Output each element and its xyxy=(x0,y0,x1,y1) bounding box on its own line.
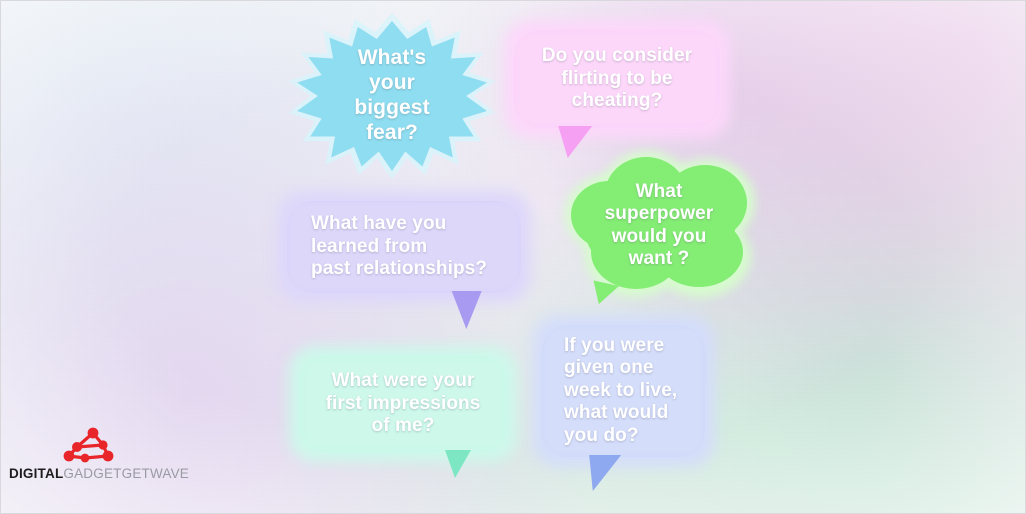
bubble-text: What superpower would you want ? xyxy=(601,181,718,271)
bubble-text: What have you learned from past relation… xyxy=(307,213,491,280)
bubble-text: What's your biggest fear? xyxy=(350,46,433,145)
site-logo[interactable]: DIGITALGADGETGETWAVE xyxy=(7,425,187,491)
speech-bubble-biggest-fear[interactable]: What's your biggest fear? xyxy=(297,21,487,171)
bubble-tail xyxy=(583,455,621,491)
bubble-text: What were your first impressions of me? xyxy=(322,370,485,437)
speech-bubble-first-impressions[interactable]: What were your first impressions of me? xyxy=(299,356,507,452)
bubble-tail xyxy=(445,450,471,478)
logo-wordmark: DIGITALGADGETGETWAVE xyxy=(9,466,189,481)
speech-bubble-flirting-cheating[interactable]: Do you consider flirting to be cheating? xyxy=(514,30,720,128)
speech-bubble-one-week-to-live[interactable]: If you were given one week to live, what… xyxy=(542,325,705,457)
logo-wordmark-light: GADGETGETWAVE xyxy=(63,466,189,481)
speech-bubble-superpower[interactable]: What superpower would you want ? xyxy=(573,163,745,288)
bubble-text: Do you consider flirting to be cheating? xyxy=(538,45,696,112)
molecule-network-icon xyxy=(7,425,187,465)
logo-wordmark-bold: DIGITAL xyxy=(9,466,63,481)
speech-bubble-past-relationships[interactable]: What have you learned from past relation… xyxy=(287,201,521,293)
image-canvas: What's your biggest fear? Do you conside… xyxy=(0,0,1026,514)
bubble-tail xyxy=(589,281,619,308)
bubble-text: If you were given one week to live, what… xyxy=(560,335,681,447)
bubble-tail xyxy=(554,126,592,158)
